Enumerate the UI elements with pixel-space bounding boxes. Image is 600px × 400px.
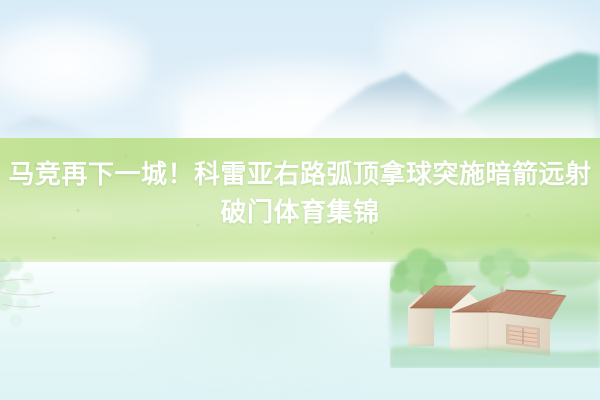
house-window — [506, 324, 540, 348]
headline-text: 马竞再下一城！科雷亚右路弧顶拿球突施暗箭远射破门体育集锦 — [0, 155, 600, 231]
house-front — [450, 290, 566, 356]
banner-image: 马竞再下一城！科雷亚右路弧顶拿球突施暗箭远射破门体育集锦 — [0, 0, 600, 400]
grass-veil — [390, 346, 600, 368]
foreground-mist-shape — [150, 286, 420, 396]
village-scene — [390, 238, 600, 368]
mountain-left-low-hill — [0, 116, 108, 140]
left-foliage-cluster — [0, 252, 106, 342]
